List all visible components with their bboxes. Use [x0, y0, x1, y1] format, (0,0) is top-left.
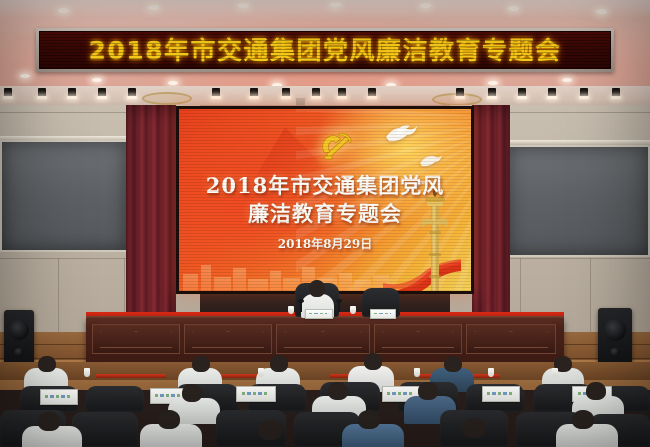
ceiling-cove-light — [0, 0, 650, 18]
delegate-name-card — [40, 389, 78, 405]
track-spotlight — [338, 88, 346, 97]
speaker-tweeter — [14, 348, 24, 356]
track-spotlight — [282, 88, 290, 97]
downlight — [148, 5, 159, 10]
led-banner-frame: 2018年市交通集团党风廉洁教育专题会 — [36, 28, 614, 72]
main-led-screen: 2018年市交通集团党风 廉洁教育专题会 2018年8月29日 — [179, 109, 471, 291]
table-panel — [374, 324, 462, 354]
audience-head — [364, 353, 382, 370]
water-cup — [350, 306, 356, 314]
audience-head — [182, 384, 202, 402]
audience-head — [258, 420, 282, 440]
led-banner-screen: 2018年市交通集团党风廉洁教育专题会 — [39, 31, 611, 69]
panel-line — [192, 347, 264, 348]
speaker-tweeter — [610, 348, 620, 356]
downlight — [238, 3, 249, 8]
chevron-inlay — [382, 331, 454, 344]
panel-line — [284, 347, 361, 348]
left-wall-panel — [0, 140, 128, 252]
audience-chair — [86, 386, 144, 412]
audience-head — [418, 382, 438, 400]
downlight — [420, 3, 431, 8]
speaker-driver — [9, 320, 29, 340]
speaker-driver — [604, 319, 626, 341]
chevron-inlay — [284, 331, 361, 344]
delegate-name-card — [236, 386, 276, 402]
downlight — [596, 9, 607, 14]
water-cup — [84, 368, 90, 377]
track-spotlight — [38, 88, 46, 97]
delegate-name-card — [482, 386, 520, 402]
table-panel — [466, 324, 556, 354]
water-cup — [552, 368, 558, 377]
chevron-inlay — [100, 331, 172, 344]
track-spotlight — [98, 88, 106, 97]
downlight — [562, 78, 572, 82]
ceiling-vent — [142, 92, 192, 105]
track-spotlight — [488, 88, 496, 97]
speaker-name-card — [305, 309, 333, 319]
track-spotlight — [212, 88, 220, 97]
microphone — [338, 302, 340, 312]
water-cup — [258, 368, 264, 377]
desk-accent-light — [96, 374, 166, 378]
table-panel — [276, 324, 370, 354]
chevron-inlay — [474, 331, 548, 344]
delegate-name-card — [370, 309, 396, 319]
downlight — [58, 8, 69, 13]
right-curtain — [472, 105, 510, 340]
head-table — [86, 318, 564, 362]
audience-head — [270, 355, 288, 372]
track-spotlight — [368, 88, 376, 97]
downlight — [488, 81, 498, 85]
wall-seam — [590, 258, 591, 333]
audience-head — [38, 412, 60, 431]
wall-seam — [58, 258, 59, 333]
speaker-head — [309, 280, 325, 297]
track-spotlight — [128, 88, 136, 97]
audience-head — [38, 356, 56, 372]
chevron-inlay — [192, 331, 264, 344]
audience-head — [328, 382, 348, 400]
audience-head — [586, 382, 606, 400]
audience-head — [358, 410, 380, 429]
downlight — [92, 78, 102, 82]
audience-head — [444, 356, 462, 372]
track-spotlight — [612, 88, 620, 97]
table-panel — [92, 324, 180, 354]
main-led-screen-frame: 2018年市交通集团党风 廉洁教育专题会 2018年8月29日 — [176, 106, 474, 294]
right-wall-panel — [506, 145, 650, 257]
track-spotlight — [312, 88, 320, 97]
water-cup — [288, 306, 294, 314]
led-scanline-overlay — [40, 32, 610, 68]
right-loudspeaker — [598, 308, 632, 366]
track-spotlight — [68, 88, 76, 97]
audience-head — [572, 410, 594, 429]
track-spotlight — [580, 88, 588, 97]
led-pixel-grid-overlay — [179, 109, 471, 291]
water-cup — [414, 368, 420, 377]
track-spotlight — [250, 88, 258, 97]
conference-hall-photo: 2018年市交通集团党风廉洁教育专题会 — [0, 0, 650, 447]
left-curtain — [126, 105, 176, 340]
microphone — [300, 302, 302, 312]
audience-head — [462, 418, 486, 438]
left-loudspeaker — [4, 310, 34, 366]
audience-head — [158, 410, 180, 429]
downlight — [20, 74, 30, 78]
table-panel — [184, 324, 272, 354]
downlight — [508, 6, 519, 11]
audience-head — [192, 356, 210, 372]
track-spotlight — [456, 88, 464, 97]
panel-line — [474, 347, 548, 348]
downlight — [168, 81, 178, 85]
track-spotlight — [548, 88, 556, 97]
downlight — [330, 2, 341, 7]
water-cup — [488, 368, 494, 377]
track-spotlight — [518, 88, 526, 97]
panel-line — [100, 347, 172, 348]
track-spotlight — [4, 88, 12, 97]
panel-line — [382, 347, 454, 348]
